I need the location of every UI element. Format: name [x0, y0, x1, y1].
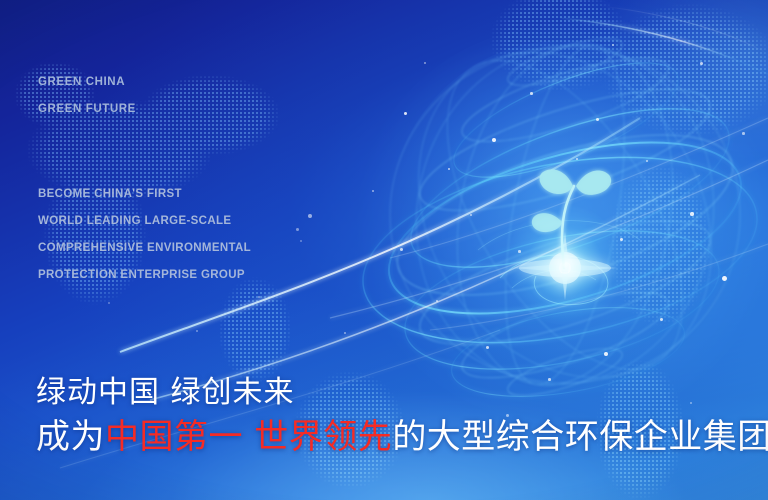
slogan-en-line-1: BECOME CHINA'S FIRST — [38, 188, 182, 200]
headline-line-2-highlight: 中国第一 世界领先 — [105, 417, 392, 457]
eyebrow-line-2: GREEN FUTURE — [38, 103, 136, 115]
headline-line-2-suffix: 的大型综合环保企业集团 — [392, 417, 768, 457]
slogan-en-line-4: PROTECTION ENTERPRISE GROUP — [38, 269, 245, 281]
eyebrow-line-1: GREEN CHINA — [38, 76, 125, 88]
hero-banner: GREEN CHINA GREEN FUTURE BECOME CHINA'S … — [0, 0, 768, 500]
headline-line-1: 绿动中国 绿创未来 — [36, 367, 295, 411]
slogan-en-line-3: COMPREHENSIVE ENVIRONMENTAL — [38, 242, 251, 254]
slogan-en-line-2: WORLD LEADING LARGE-SCALE — [38, 215, 231, 227]
headline-line-2: 成为中国第一 世界领先的大型综合环保企业集团 — [36, 409, 768, 458]
headline-line-2-prefix: 成为 — [36, 417, 105, 457]
